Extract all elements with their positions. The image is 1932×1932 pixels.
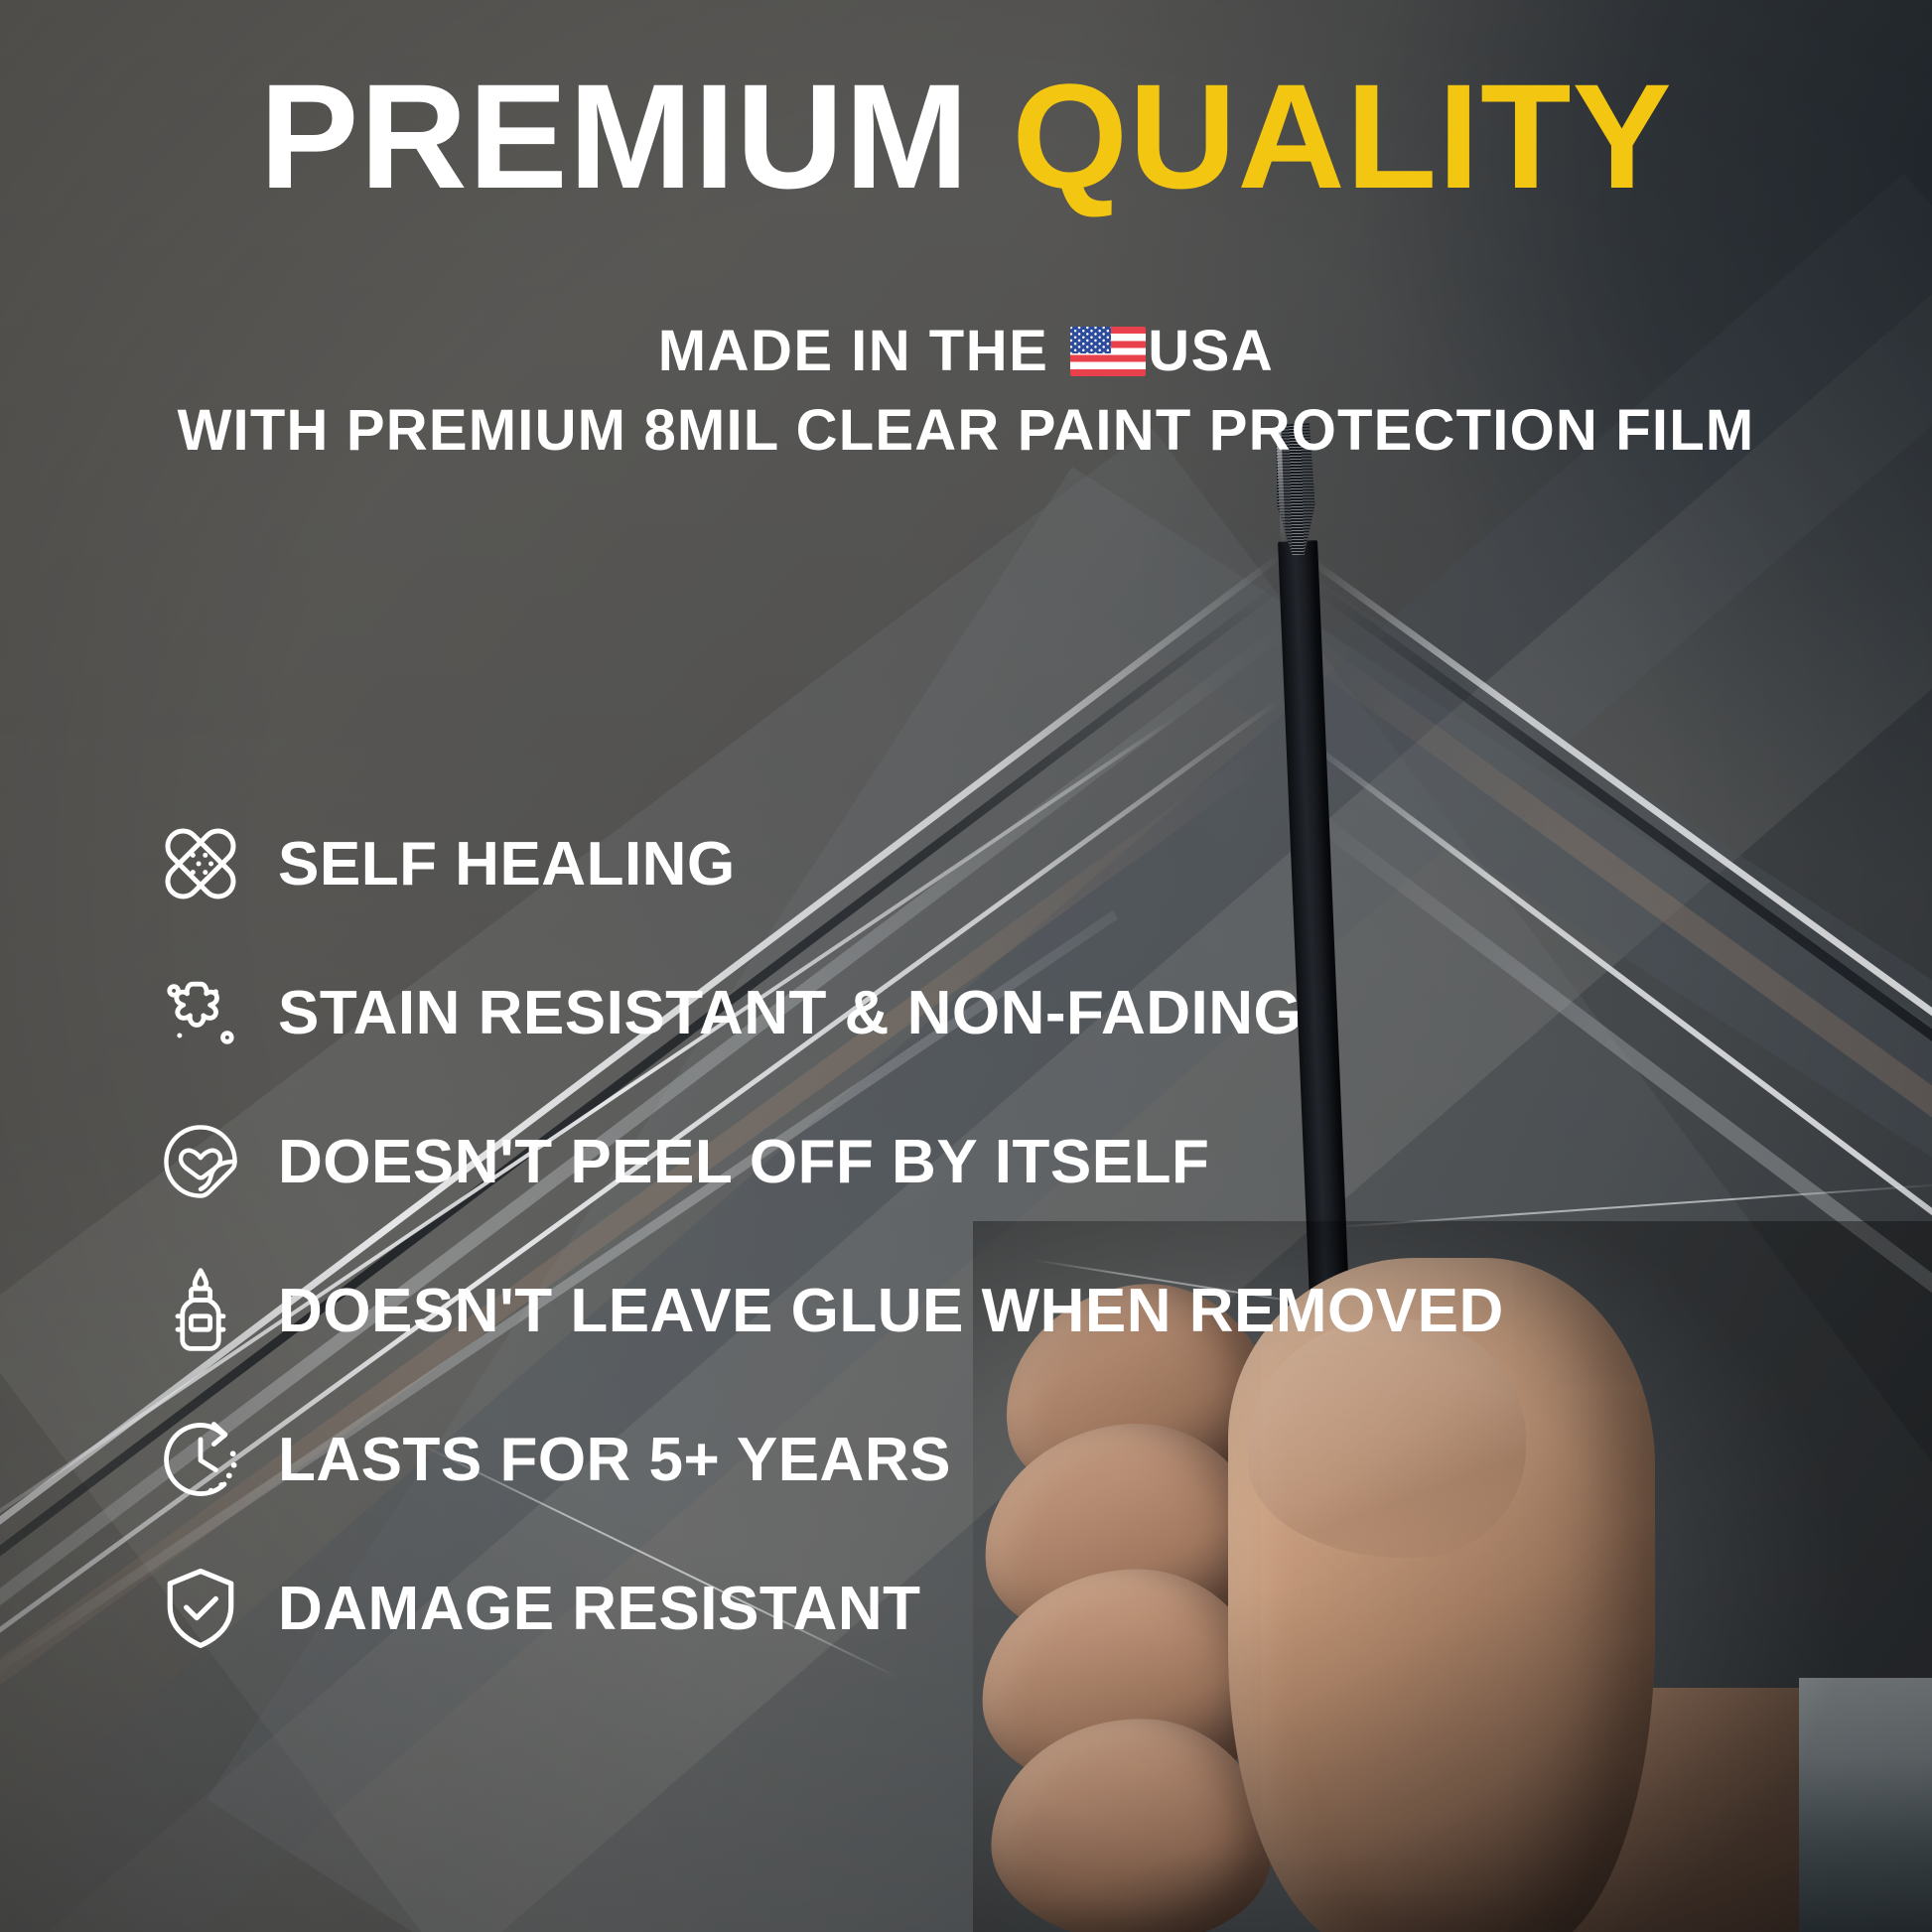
feature-label: LASTS FOR 5+ YEARS <box>278 1425 951 1495</box>
subheadline-line-1: MADE IN THE USA <box>0 318 1932 384</box>
feature-list: SELF HEALING STAIN RESISTANT & NON-FADIN… <box>149 814 1837 1658</box>
stain-splatter-icon <box>149 963 252 1062</box>
feature-item-stain-resistant: STAIN RESISTANT & NON-FADING <box>149 963 1837 1062</box>
shield-check-icon <box>149 1559 252 1658</box>
feature-label: DOESN'T PEEL OFF BY ITSELF <box>278 1127 1209 1197</box>
feature-label: DAMAGE RESISTANT <box>278 1574 921 1644</box>
sticker-heart-icon <box>149 1112 252 1211</box>
feature-label: DOESN'T LEAVE GLUE WHEN REMOVED <box>278 1276 1504 1346</box>
bandage-cross-icon <box>149 814 252 913</box>
subheadline-line-2: WITH PREMIUM 8MIL CLEAR PAINT PROTECTION… <box>0 397 1932 464</box>
product-infographic: PREMIUM QUALITY MADE IN THE USA WITH PRE… <box>0 0 1932 1932</box>
headline-word-premium: PREMIUM <box>259 53 969 219</box>
headline-word-quality: QUALITY <box>1012 53 1672 219</box>
glue-bottle-icon <box>149 1261 252 1360</box>
usa-text: USA <box>1148 318 1274 384</box>
feature-label: STAIN RESISTANT & NON-FADING <box>278 978 1302 1048</box>
flag-stars <box>1070 327 1111 353</box>
feature-item-no-glue: DOESN'T LEAVE GLUE WHEN REMOVED <box>149 1261 1837 1360</box>
feature-item-lasts-5-years: LASTS FOR 5+ YEARS <box>149 1410 1837 1509</box>
made-in-the-text: MADE IN THE <box>658 318 1049 384</box>
feature-item-damage-resistant: DAMAGE RESISTANT <box>149 1559 1837 1658</box>
clock-arrow-icon <box>149 1410 252 1509</box>
feature-item-no-peel: DOESN'T PEEL OFF BY ITSELF <box>149 1112 1837 1211</box>
feature-item-self-healing: SELF HEALING <box>149 814 1837 913</box>
feature-label: SELF HEALING <box>278 829 736 899</box>
headline: PREMIUM QUALITY <box>0 62 1932 210</box>
us-flag-icon <box>1070 327 1146 376</box>
